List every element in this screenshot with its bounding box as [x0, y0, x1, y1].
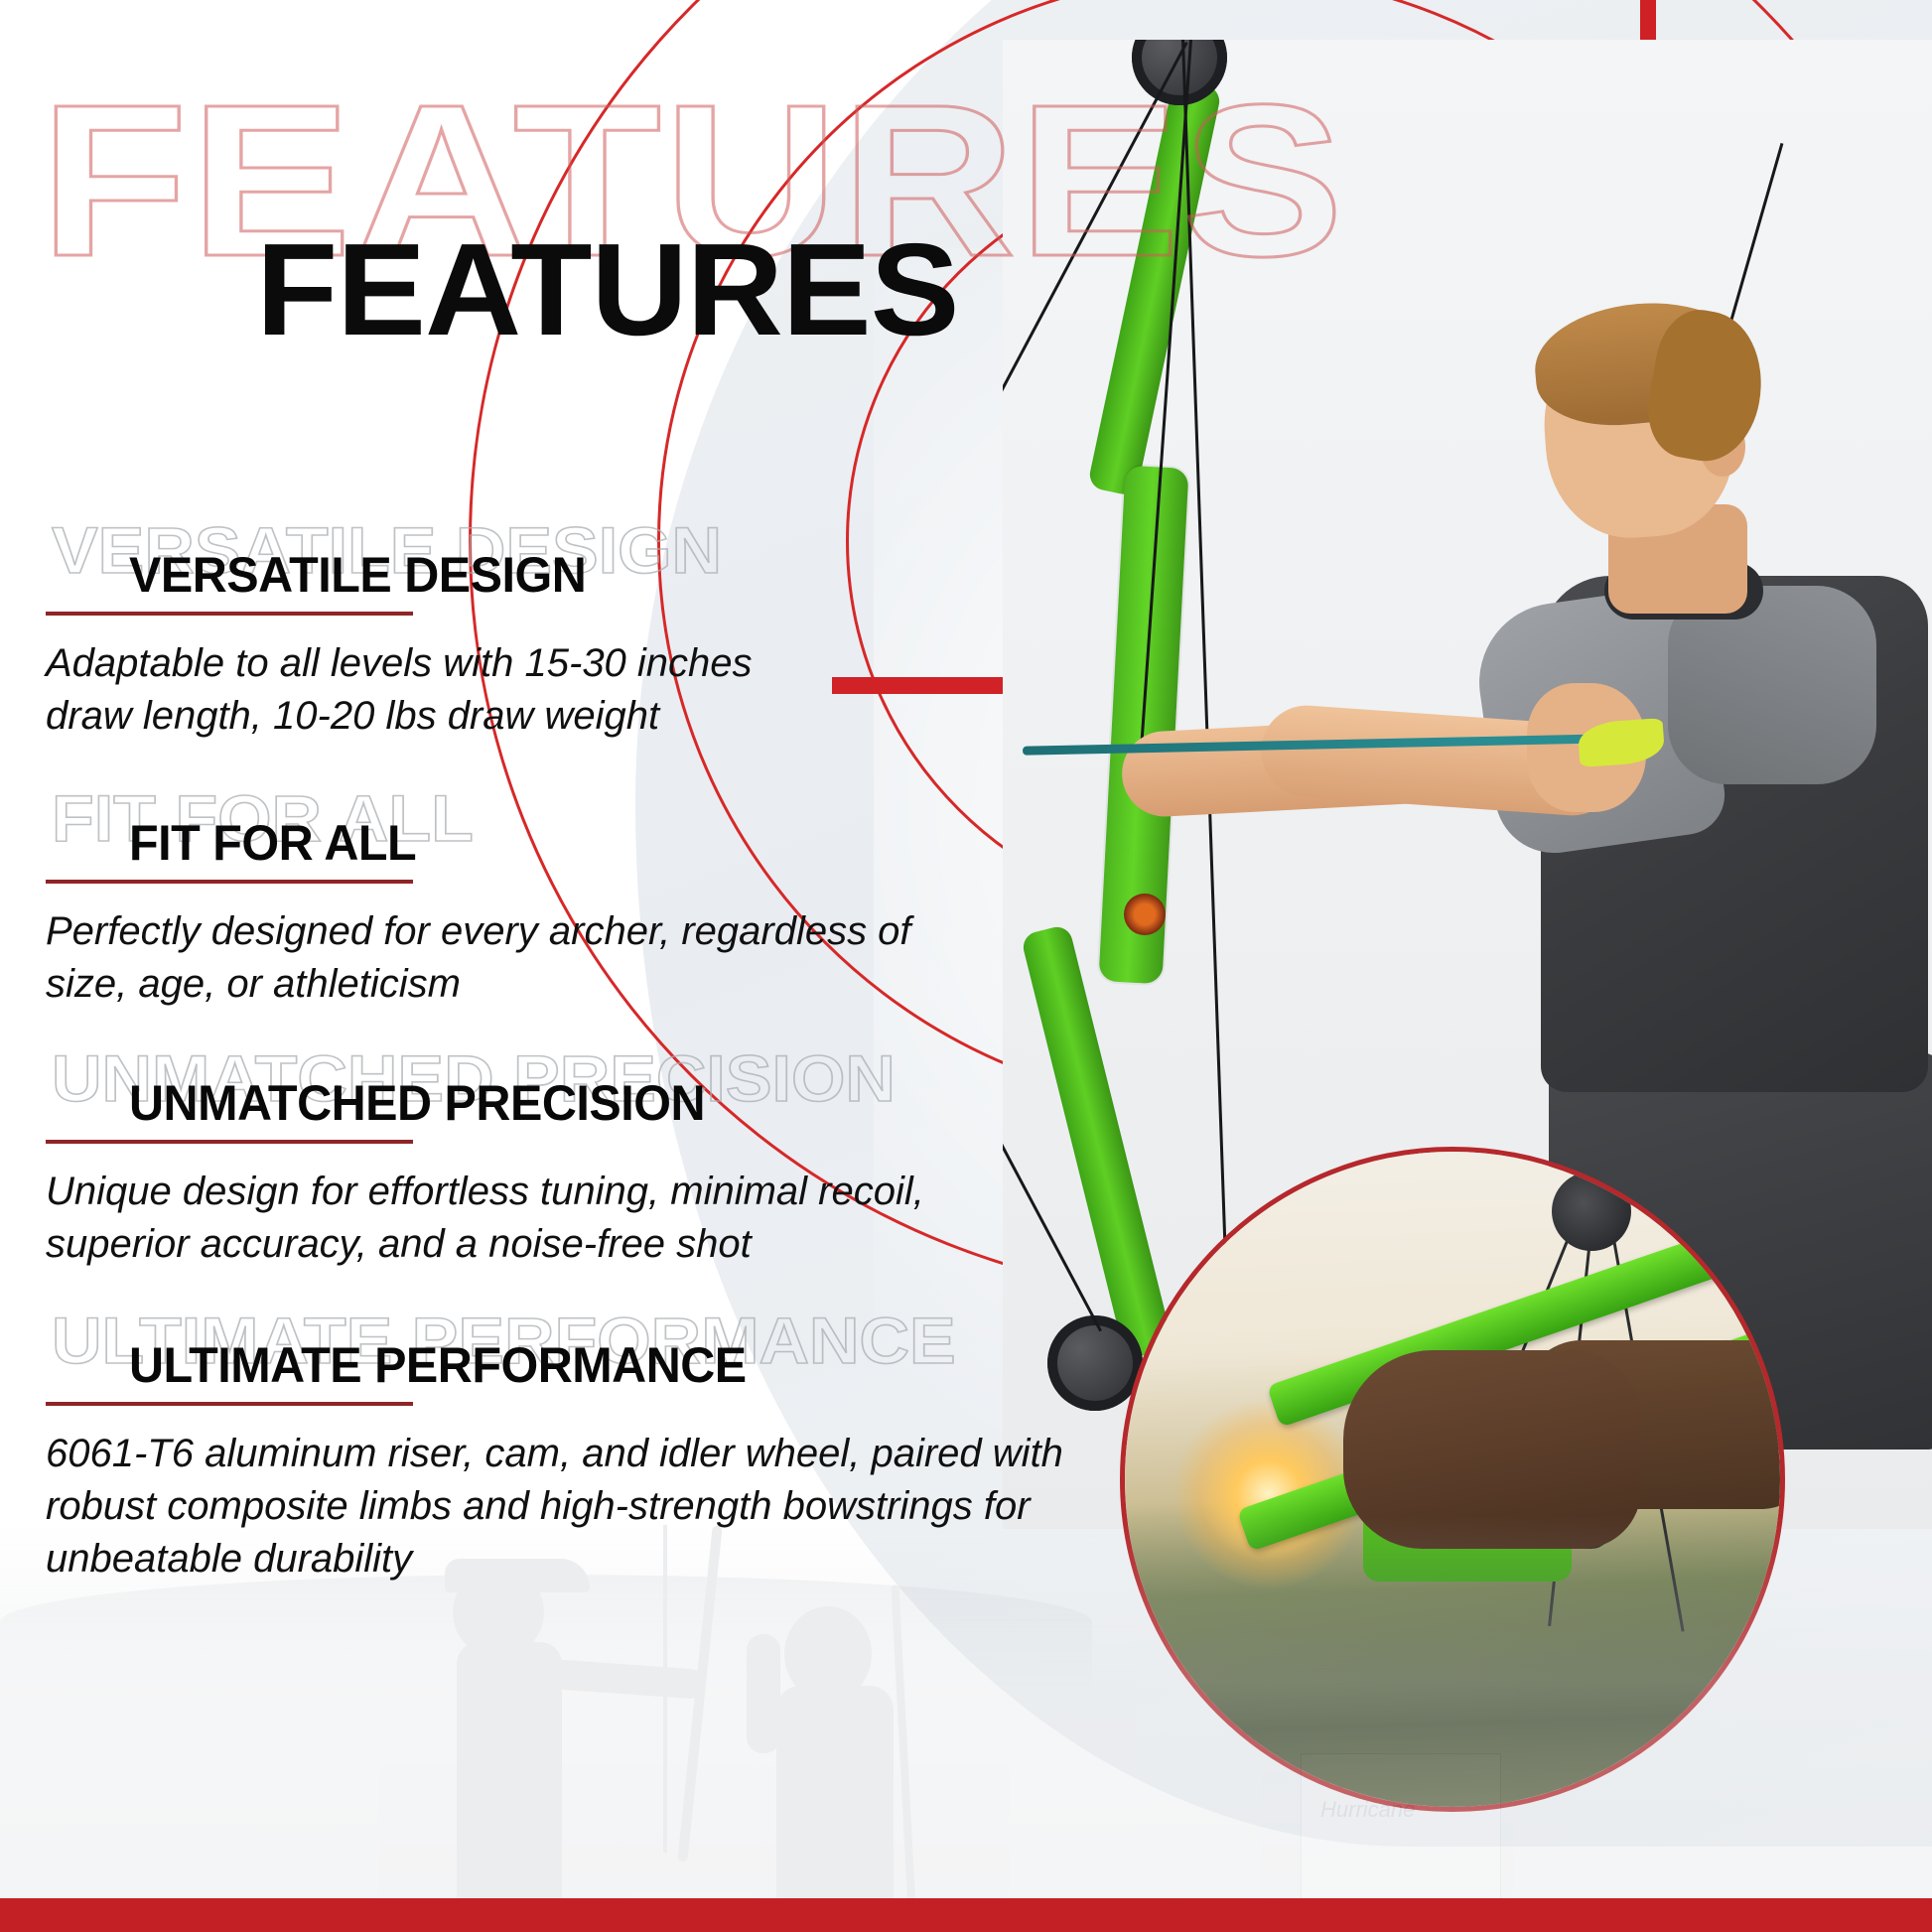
feature-underline [46, 612, 413, 616]
infographic-canvas: GENESIS GENESIS Hurricane FEATURES FEATU… [0, 0, 1932, 1932]
watermark-target-bag [1301, 1753, 1501, 1904]
feature-heading: VERSATILE DESIGN [129, 546, 586, 604]
silhouette-archer-b-arm [747, 1634, 780, 1753]
bottom-accent-bar [0, 1898, 1932, 1932]
silhouette-archer-b-body [776, 1686, 894, 1932]
bow-logo-badge [1124, 894, 1166, 935]
feature-body: Perfectly designed for every archer, reg… [46, 905, 919, 1011]
feature-body: 6061-T6 aluminum riser, cam, and idler w… [46, 1428, 1098, 1587]
feature-underline [46, 1402, 413, 1406]
target-tick-left [832, 677, 1017, 694]
feature-body: Unique design for effortless tuning, min… [46, 1166, 979, 1271]
inset-bow-cam [1552, 1172, 1631, 1251]
watermark-label: Hurricane [1320, 1797, 1415, 1823]
feature-heading: ULTIMATE PERFORMANCE [129, 1336, 747, 1394]
feature-body: Adaptable to all levels with 15-30 inche… [46, 637, 810, 743]
feature-underline [46, 1140, 413, 1144]
feature-heading: UNMATCHED PRECISION [129, 1074, 705, 1132]
feature-heading: FIT FOR ALL [129, 814, 416, 872]
page-title: FEATURES [256, 214, 958, 364]
feature-underline [46, 880, 413, 884]
